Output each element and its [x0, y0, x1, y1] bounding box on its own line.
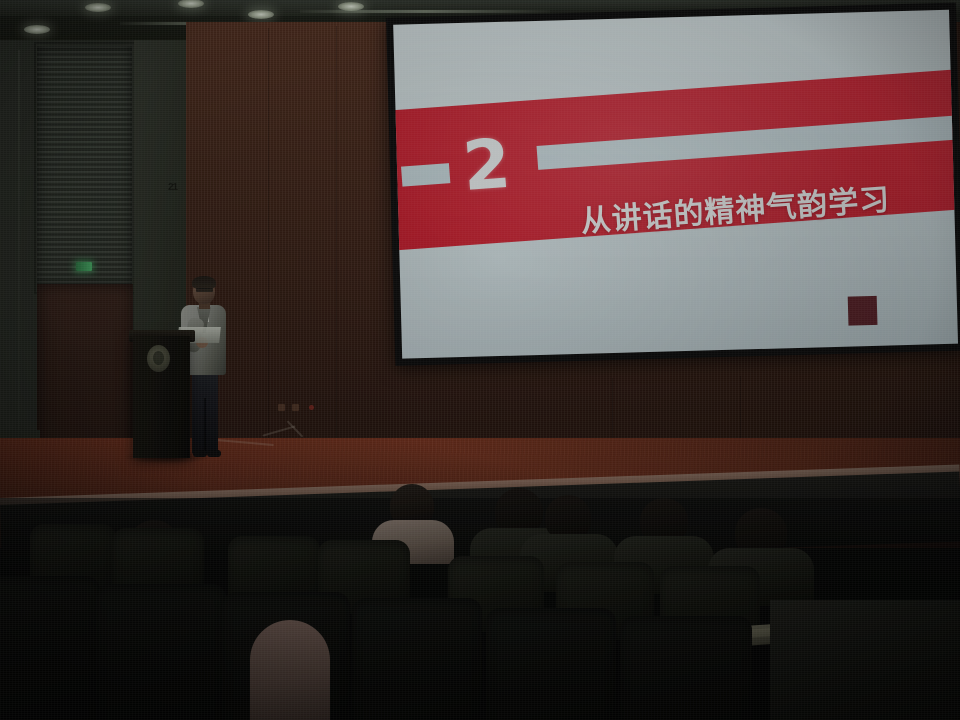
audience-shoulders [250, 620, 330, 720]
ceiling-light-strip [300, 10, 550, 13]
slide-accent-bar-left [401, 163, 450, 186]
audience-seat [0, 576, 100, 720]
projection-screen: 2 从讲话的精神气韵学习 [386, 2, 960, 377]
wall-marking-label: 21 [168, 182, 177, 193]
slide-section-number: 2 [461, 131, 513, 202]
presenter-shoe [207, 450, 221, 457]
ceiling-downlight [85, 3, 111, 12]
audience-seat [486, 608, 616, 720]
side-door[interactable] [37, 284, 133, 458]
wall-outlet [278, 404, 285, 411]
ceiling-downlight [24, 25, 50, 34]
audience-seat [620, 616, 752, 720]
slide-corner-marker [848, 296, 878, 326]
screen-surface: 2 从讲话的精神气韵学习 [393, 10, 958, 359]
louvered-shutter-panel [37, 46, 132, 286]
presenter-leg-gap [204, 398, 206, 454]
exit-sign-icon [76, 262, 92, 271]
wall-seam [18, 50, 20, 470]
auditorium-photo: 21 2 从讲话的精神气韵学习 [0, 0, 960, 720]
glasses-icon [196, 288, 213, 292]
institution-seal-inner [153, 351, 164, 365]
aisle-floor [770, 600, 960, 720]
presenter-shoe [193, 450, 207, 457]
wall-indicator-light [309, 405, 314, 410]
wall-outlet [292, 404, 299, 411]
audience-seat [96, 584, 226, 720]
ceiling-downlight [248, 10, 274, 19]
audience-seat [352, 598, 482, 720]
